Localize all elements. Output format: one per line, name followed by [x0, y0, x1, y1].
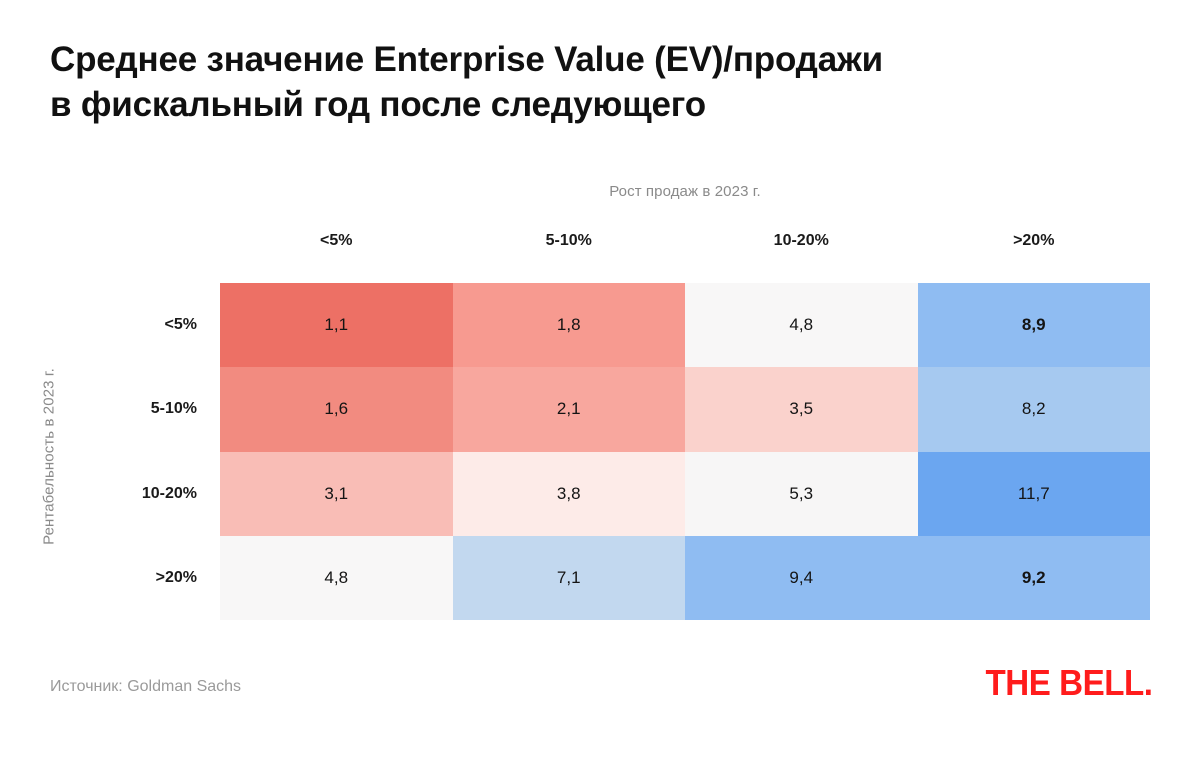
heatmap-cell: 1,8 — [453, 283, 686, 367]
heatmap-cell: 11,7 — [918, 452, 1151, 536]
heatmap-cell: 1,6 — [220, 367, 453, 451]
heatmap-cell: 7,1 — [453, 536, 686, 620]
heatmap-cell: 9,4 — [685, 536, 918, 620]
heatmap-grid: 1,1 1,8 4,8 8,9 1,6 2,1 3,5 8,2 3,1 3,8 … — [220, 283, 1150, 620]
heatmap-cell: 4,8 — [685, 283, 918, 367]
heatmap-row: 1,1 1,8 4,8 8,9 — [220, 283, 1150, 367]
row-label-2: 10-20% — [60, 452, 205, 536]
heatmap-row: 3,1 3,8 5,3 11,7 — [220, 452, 1150, 536]
heatmap-row: 1,6 2,1 3,5 8,2 — [220, 367, 1150, 451]
column-header-1: 5-10% — [453, 232, 686, 250]
row-label-1: 5-10% — [60, 367, 205, 451]
row-label-3: >20% — [60, 536, 205, 620]
column-header-3: >20% — [918, 232, 1151, 250]
heatmap-cell: 3,5 — [685, 367, 918, 451]
column-header-row: <5% 5-10% 10-20% >20% — [220, 232, 1150, 250]
heatmap-cell: 3,8 — [453, 452, 686, 536]
heatmap-cell: 2,1 — [453, 367, 686, 451]
heatmap-cell: 4,8 — [220, 536, 453, 620]
heatmap-cell: 8,2 — [918, 367, 1151, 451]
column-header-0: <5% — [220, 232, 453, 250]
heatmap-cell: 3,1 — [220, 452, 453, 536]
heatmap-cell: 8,9 — [918, 283, 1151, 367]
heatmap-cell: 5,3 — [685, 452, 918, 536]
the-bell-logo: THE BELL. — [985, 662, 1152, 704]
column-header-2: 10-20% — [685, 232, 918, 250]
heatmap-cell: 1,1 — [220, 283, 453, 367]
heatmap-cell: 9,2 — [918, 536, 1151, 620]
heatmap-chart: Рост продаж в 2023 г. <5% 5-10% 10-20% >… — [0, 0, 1200, 760]
column-axis-title: Рост продаж в 2023 г. — [220, 183, 1150, 200]
source-caption: Источник: Goldman Sachs — [50, 678, 241, 696]
row-label-0: <5% — [60, 283, 205, 367]
row-label-column: <5% 5-10% 10-20% >20% — [60, 283, 205, 620]
chart-page: Среднее значение Enterprise Value (EV)/п… — [0, 0, 1200, 760]
row-axis-title: Рентабельность в 2023 г. — [41, 342, 58, 572]
heatmap-row: 4,8 7,1 9,4 9,2 — [220, 536, 1150, 620]
